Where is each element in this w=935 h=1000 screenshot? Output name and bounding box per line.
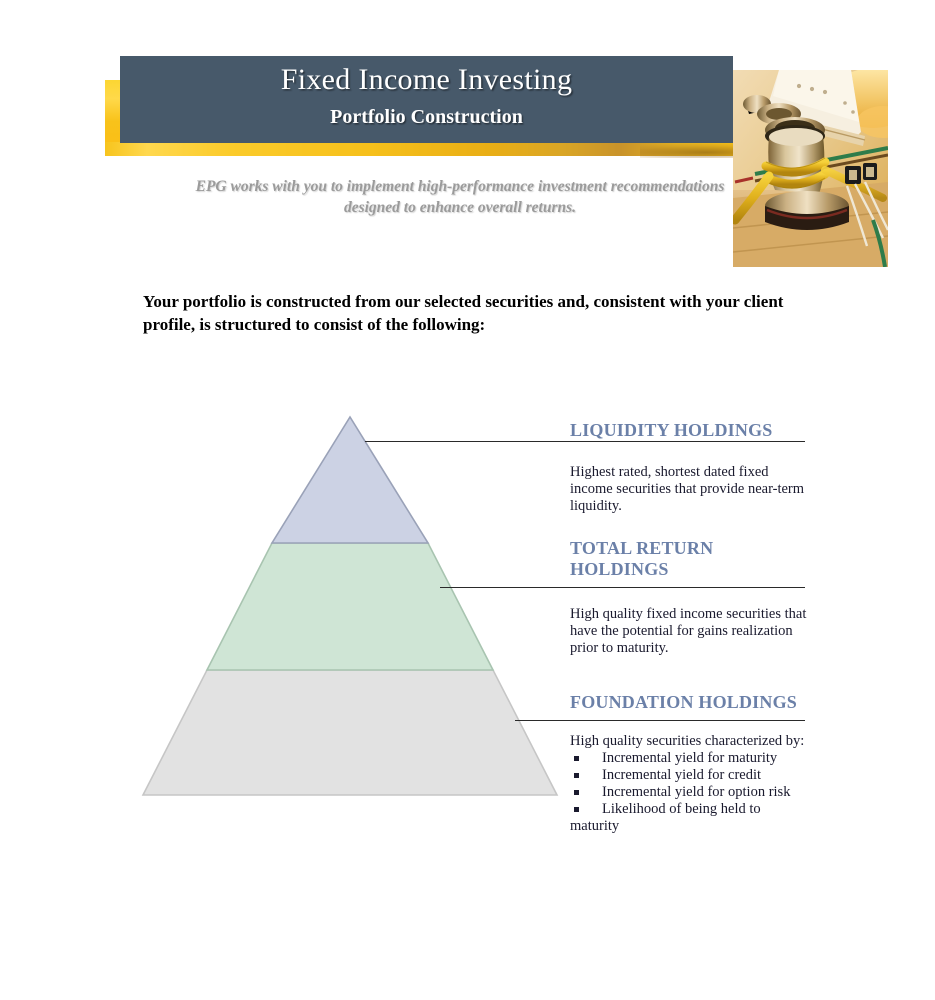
bullet-square-icon xyxy=(574,756,579,761)
section-title-total-return-line1: TOTAL RETURN xyxy=(570,538,810,559)
sailboat-winch-photo xyxy=(733,70,888,267)
list-item: Incremental yield for option risk xyxy=(570,784,810,801)
list-item: Incremental yield for credit xyxy=(570,767,810,784)
title-box: Fixed Income Investing Portfolio Constru… xyxy=(120,56,733,143)
section-body-foundation: High quality securities characterized by… xyxy=(570,733,810,750)
pyramid-tier-total-return xyxy=(207,543,493,670)
section-liquidity-holdings: LIQUIDITY HOLDINGS Highest rated, shorte… xyxy=(570,420,810,515)
foundation-bullet-tail: maturity xyxy=(570,818,810,835)
intro-paragraph: Your portfolio is constructed from our s… xyxy=(143,290,791,336)
page-title: Fixed Income Investing xyxy=(120,63,733,97)
header-banner: Fixed Income Investing Portfolio Constru… xyxy=(0,0,935,280)
gold-accent-bar xyxy=(105,142,802,156)
section-title-foundation: FOUNDATION HOLDINGS xyxy=(570,692,810,713)
bullet-square-icon xyxy=(574,773,579,778)
tagline: EPG works with you to implement high-per… xyxy=(180,176,740,218)
pyramid-tier-liquidity xyxy=(272,417,428,543)
portfolio-pyramid-diagram xyxy=(140,410,560,805)
bullet-square-icon xyxy=(574,807,579,812)
foundation-bullet-list: Incremental yield for maturity Increment… xyxy=(570,750,810,818)
section-body-total-return: High quality fixed income securities tha… xyxy=(570,606,810,657)
section-body-liquidity: Highest rated, shortest dated fixed inco… xyxy=(570,464,810,515)
section-title-total-return-line2: HOLDINGS xyxy=(570,559,810,580)
list-item: Likelihood of being held to xyxy=(570,801,810,818)
list-item: Incremental yield for maturity xyxy=(570,750,810,767)
list-item-label: Likelihood of being held to xyxy=(602,801,761,817)
section-title-liquidity: LIQUIDITY HOLDINGS xyxy=(570,420,810,441)
page-subtitle: Portfolio Construction xyxy=(120,106,733,129)
list-item-label: Incremental yield for option risk xyxy=(602,784,790,800)
pyramid-tier-foundation xyxy=(143,670,557,795)
section-foundation-holdings: FOUNDATION HOLDINGS High quality securit… xyxy=(570,692,810,835)
bullet-square-icon xyxy=(574,790,579,795)
list-item-label: Incremental yield for credit xyxy=(602,767,761,783)
list-item-label: Incremental yield for maturity xyxy=(602,750,777,766)
section-total-return-holdings: TOTAL RETURN HOLDINGS High quality fixed… xyxy=(570,538,810,657)
